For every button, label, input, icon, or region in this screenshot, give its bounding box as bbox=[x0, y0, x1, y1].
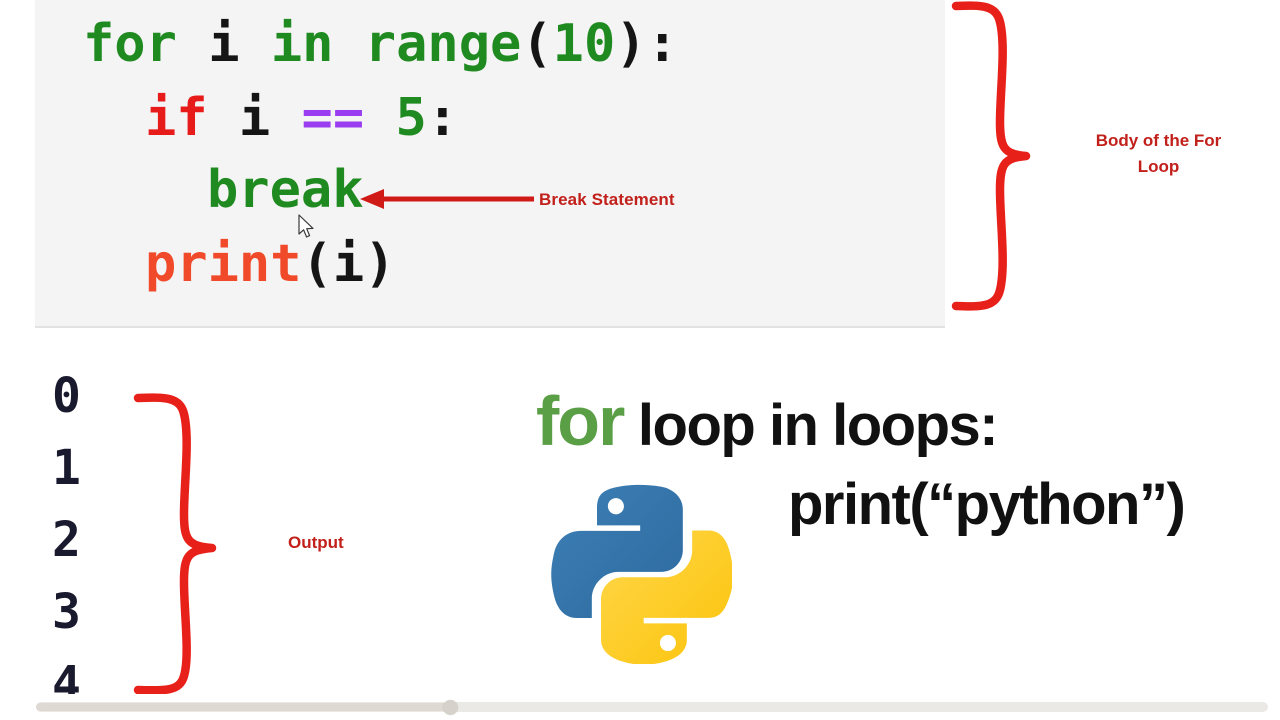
code-line-print: print(i) bbox=[145, 234, 395, 294]
body-of-for-loop-label: Body of the For Loop bbox=[1076, 128, 1241, 181]
code-editor-panel[interactable]: for i in range(10): if i == 5: break pri… bbox=[35, 0, 945, 328]
horizontal-scrollbar-thumb[interactable] bbox=[443, 700, 458, 715]
output-brace-icon bbox=[132, 388, 257, 700]
code-token: i bbox=[239, 88, 302, 148]
title-line-one-rest: loop in loops: bbox=[623, 393, 997, 458]
mouse-cursor-icon bbox=[297, 214, 317, 240]
output-value: 1 bbox=[52, 440, 81, 496]
output-value: 3 bbox=[52, 584, 81, 640]
code-token: for bbox=[83, 14, 208, 74]
code-token: == bbox=[302, 88, 396, 148]
body-of-for-loop-brace-icon bbox=[950, 0, 1070, 316]
code-token: if bbox=[145, 88, 239, 148]
code-line-break: break bbox=[207, 160, 364, 220]
horizontal-scrollbar-progress bbox=[36, 703, 456, 711]
break-statement-label: Break Statement bbox=[539, 190, 675, 210]
code-token: 5 bbox=[395, 88, 426, 148]
code-token: 10 bbox=[553, 14, 616, 74]
code-token: ( bbox=[302, 234, 333, 294]
title-line-one: for loop in loops: bbox=[536, 385, 1256, 459]
break-statement-arrow-icon bbox=[358, 186, 538, 212]
code-token: ) bbox=[364, 234, 395, 294]
code-line-for: for i in range(10): bbox=[83, 14, 678, 74]
python-logo-icon bbox=[548, 468, 732, 664]
code-token: break bbox=[207, 160, 364, 220]
output-value: 2 bbox=[52, 512, 81, 568]
code-token: i bbox=[333, 234, 364, 294]
left-margin-strip bbox=[0, 0, 35, 332]
code-token: : bbox=[427, 88, 458, 148]
code-token: ) bbox=[615, 14, 646, 74]
code-token: print bbox=[145, 234, 302, 294]
title-keyword-for: for bbox=[536, 382, 623, 460]
code-token: : bbox=[647, 14, 678, 74]
output-label: Output bbox=[288, 533, 344, 553]
code-token: i bbox=[208, 14, 239, 74]
code-line-if: if i == 5: bbox=[145, 88, 458, 148]
code-token: in bbox=[240, 14, 365, 74]
code-token: ( bbox=[521, 14, 552, 74]
title-line-two: print(“python”) bbox=[788, 471, 1256, 538]
code-token: range bbox=[365, 14, 522, 74]
output-value: 0 bbox=[52, 368, 81, 424]
